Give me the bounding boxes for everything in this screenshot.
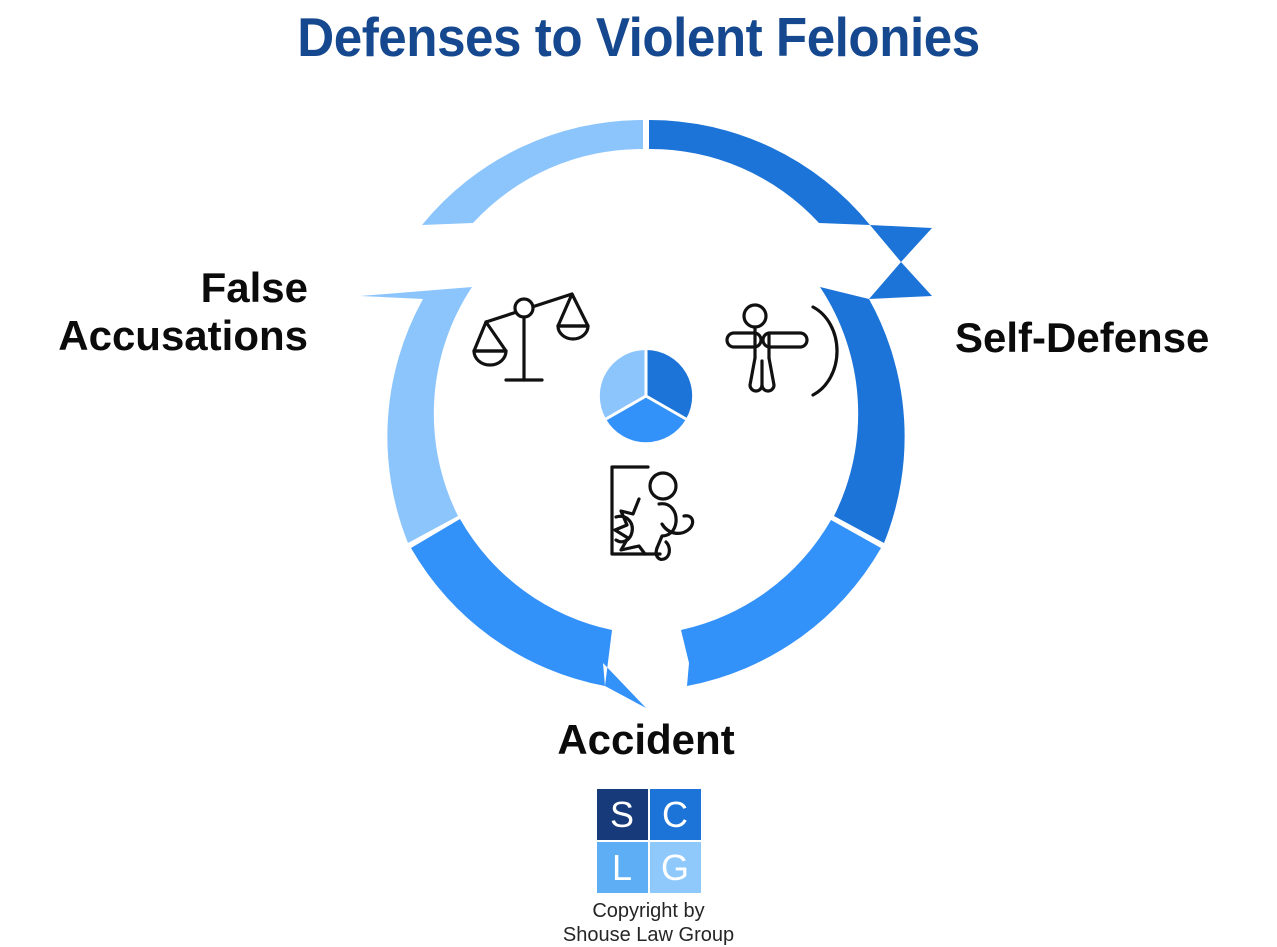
segment-label-accident: Accident xyxy=(446,716,846,764)
logo-letter-l: L xyxy=(597,842,648,893)
sclg-logo-grid: S C L G xyxy=(597,789,701,893)
ring-segment-false-accusations[interactable] xyxy=(360,120,643,543)
segment-label-self-defense: Self-Defense xyxy=(955,314,1275,362)
logo-letter-c: C xyxy=(650,789,701,840)
self-defense-person-icon xyxy=(727,305,837,395)
ring-segment-accident-body[interactable] xyxy=(411,519,881,708)
ring-segment-accident[interactable] xyxy=(411,519,881,708)
balance-scales-icon xyxy=(474,294,588,380)
copyright-text: Copyright by Shouse Law Group xyxy=(563,899,734,947)
logo-letter-s: S xyxy=(597,789,648,840)
falling-person-accident-icon xyxy=(612,467,693,559)
center-mini-pie xyxy=(600,350,692,442)
logo-letter-g: G xyxy=(650,842,701,893)
ring-segment-false-accusations-body[interactable] xyxy=(360,120,643,543)
segment-label-false-accusations: False Accusations xyxy=(8,264,308,360)
shouse-law-group-logo: S C L G Copyright by Shouse Law Group xyxy=(556,789,741,947)
